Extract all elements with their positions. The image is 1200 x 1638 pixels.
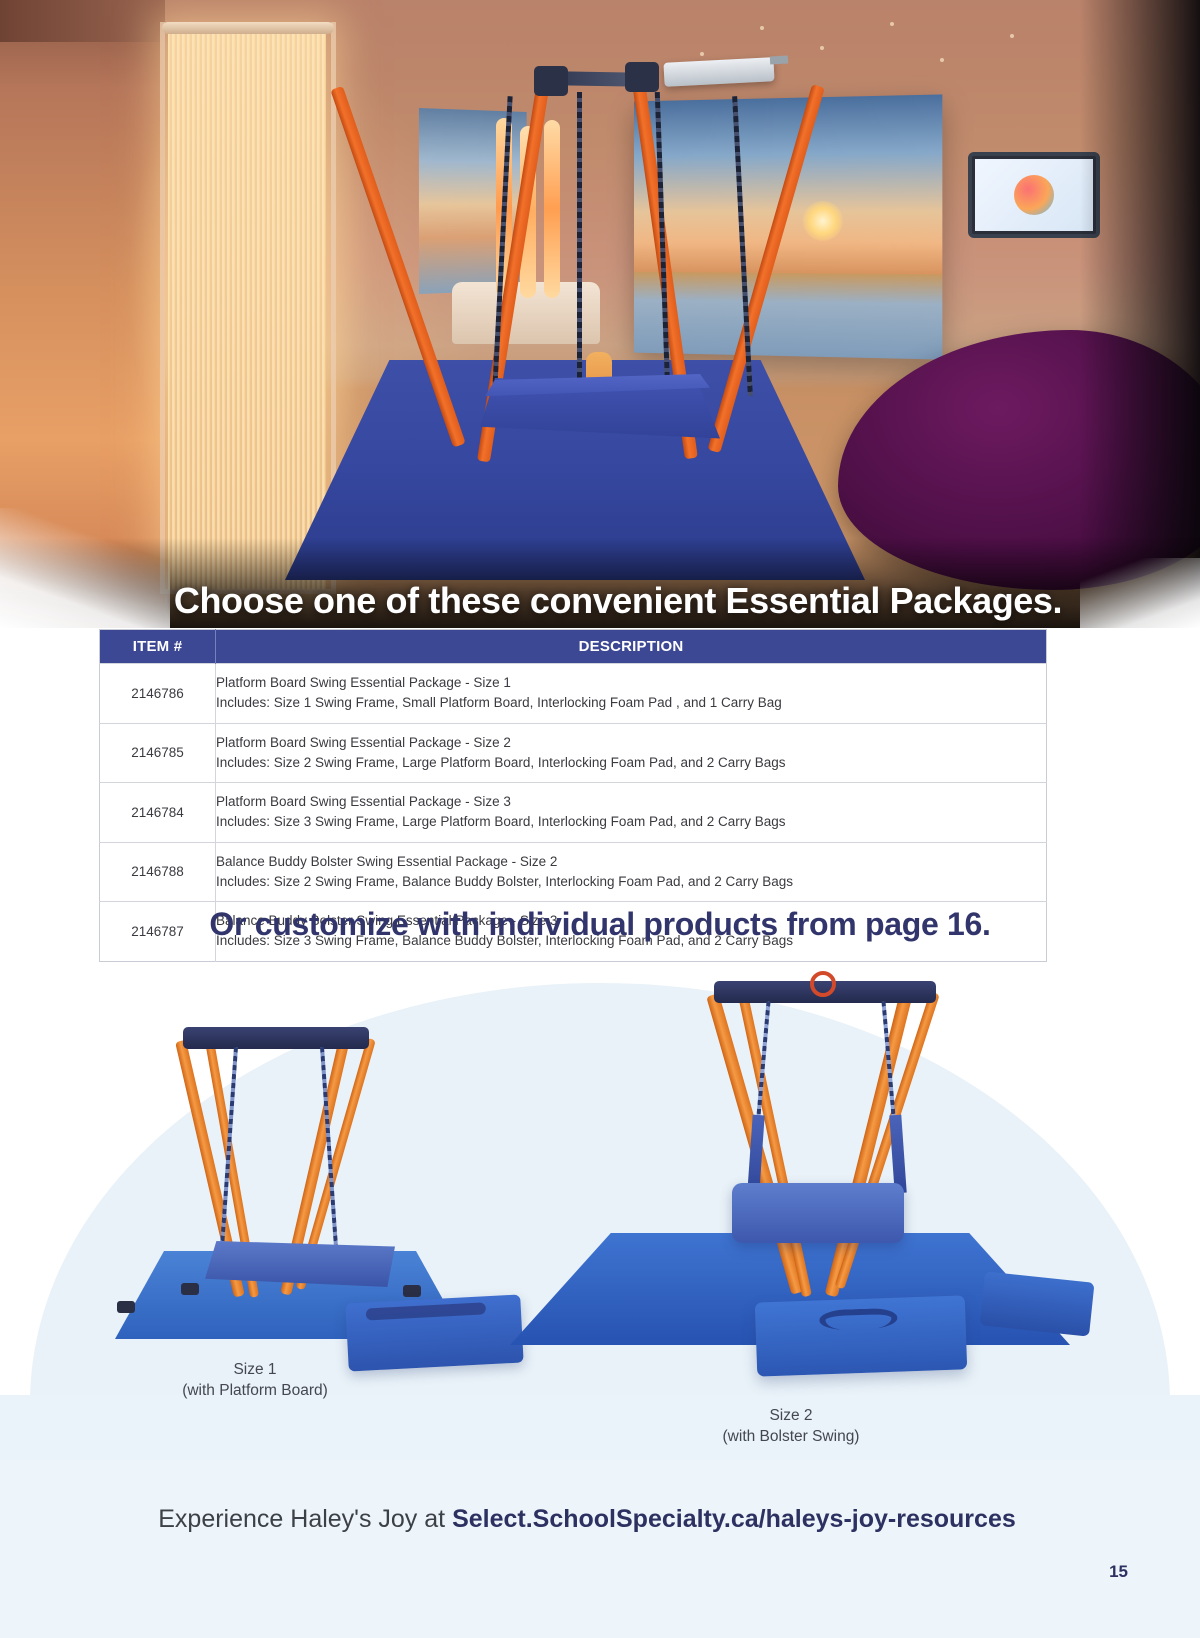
footer-lead: Experience Haley's Joy at (158, 1505, 452, 1533)
table-row[interactable]: 2146786 Platform Board Swing Essential P… (100, 664, 1047, 724)
carry-bag-strap (366, 1302, 486, 1320)
item-number: 2146784 (100, 783, 216, 843)
carry-bag-handle (819, 1308, 898, 1331)
item-description: Balance Buddy Bolster Swing Essential Pa… (216, 842, 1047, 902)
sun-icon (803, 201, 843, 241)
item-description: Platform Board Swing Essential Package -… (216, 723, 1047, 783)
bolster-strap (889, 1115, 906, 1194)
hero-right-vignette (1080, 0, 1200, 628)
frame-header-bar (183, 1027, 369, 1049)
table-header-row: ITEM # DESCRIPTION (100, 630, 1047, 664)
package-includes: Includes: Size 2 Swing Frame, Balance Bu… (216, 872, 1046, 892)
item-number: 2146786 (100, 664, 216, 724)
item-number: 2146788 (100, 842, 216, 902)
wall-display-screen (975, 159, 1093, 231)
column-header-item: ITEM # (100, 630, 216, 664)
frame-foot (117, 1301, 135, 1313)
carry-bag (979, 1271, 1094, 1336)
caption-line-2: (with Platform Board) (130, 1381, 380, 1402)
ceiling-star (940, 58, 944, 62)
carry-bag (755, 1295, 967, 1376)
item-number: 2146785 (100, 723, 216, 783)
beach-projection-screen (634, 94, 942, 359)
table-row[interactable]: 2146784 Platform Board Swing Essential P… (100, 783, 1047, 843)
package-includes: Includes: Size 1 Swing Frame, Small Plat… (216, 693, 1046, 713)
customize-subheading: Or customize with individual products fr… (0, 906, 1200, 943)
projector-mount (770, 56, 788, 65)
package-title: Platform Board Swing Essential Package -… (216, 733, 1046, 753)
catalog-page: Choose one of these convenient Essential… (0, 0, 1200, 1638)
hero-headline: Choose one of these convenient Essential… (0, 580, 1200, 622)
ceiling-star (760, 26, 764, 30)
ceiling-star (820, 46, 824, 50)
table-head: ITEM # DESCRIPTION (100, 630, 1047, 664)
window-frame (160, 22, 336, 594)
page-number: 15 (1109, 1562, 1128, 1582)
caption-line-1: Size 1 (130, 1360, 380, 1381)
product-image-size-2 (510, 965, 1090, 1395)
package-title: Balance Buddy Bolster Swing Essential Pa… (216, 852, 1046, 872)
footer-band (0, 1460, 1200, 1638)
column-header-description: DESCRIPTION (216, 630, 1047, 664)
item-description: Platform Board Swing Essential Package -… (216, 664, 1047, 724)
product-image-size-1 (55, 983, 495, 1363)
ceiling-star (1010, 34, 1014, 38)
package-title: Platform Board Swing Essential Package -… (216, 673, 1046, 693)
frame-foot (403, 1285, 421, 1297)
ceiling-star (890, 22, 894, 26)
swing-chain (577, 92, 582, 382)
item-description: Platform Board Swing Essential Package -… (216, 783, 1047, 843)
caption-line-1: Size 2 (665, 1406, 917, 1427)
frame-foot (181, 1283, 199, 1295)
caption-size-2: Size 2 (with Bolster Swing) (665, 1406, 917, 1448)
caption-size-1: Size 1 (with Platform Board) (130, 1360, 380, 1402)
swing-frame-apex (534, 66, 568, 96)
package-title: Platform Board Swing Essential Package -… (216, 792, 1046, 812)
hero-photo: Choose one of these convenient Essential… (0, 0, 1200, 628)
package-includes: Includes: Size 3 Swing Frame, Large Plat… (216, 812, 1046, 832)
wall-display-artwork (1014, 175, 1054, 215)
curtain-rod (162, 22, 334, 34)
balance-buddy-bolster (732, 1183, 904, 1243)
package-includes: Includes: Size 2 Swing Frame, Large Plat… (216, 753, 1046, 773)
bubble-tube (544, 120, 560, 298)
caption-line-2: (with Bolster Swing) (665, 1427, 917, 1448)
table-row[interactable]: 2146785 Platform Board Swing Essential P… (100, 723, 1047, 783)
ceiling-star (700, 52, 704, 56)
table-row[interactable]: 2146788 Balance Buddy Bolster Swing Esse… (100, 842, 1047, 902)
hook-icon (810, 971, 836, 997)
resources-link[interactable]: Select.SchoolSpecialty.ca/haleys-joy-res… (452, 1505, 1016, 1533)
footer-text: Experience Haley's Joy at Select.SchoolS… (0, 1505, 1200, 1534)
swing-frame-apex (625, 62, 659, 92)
